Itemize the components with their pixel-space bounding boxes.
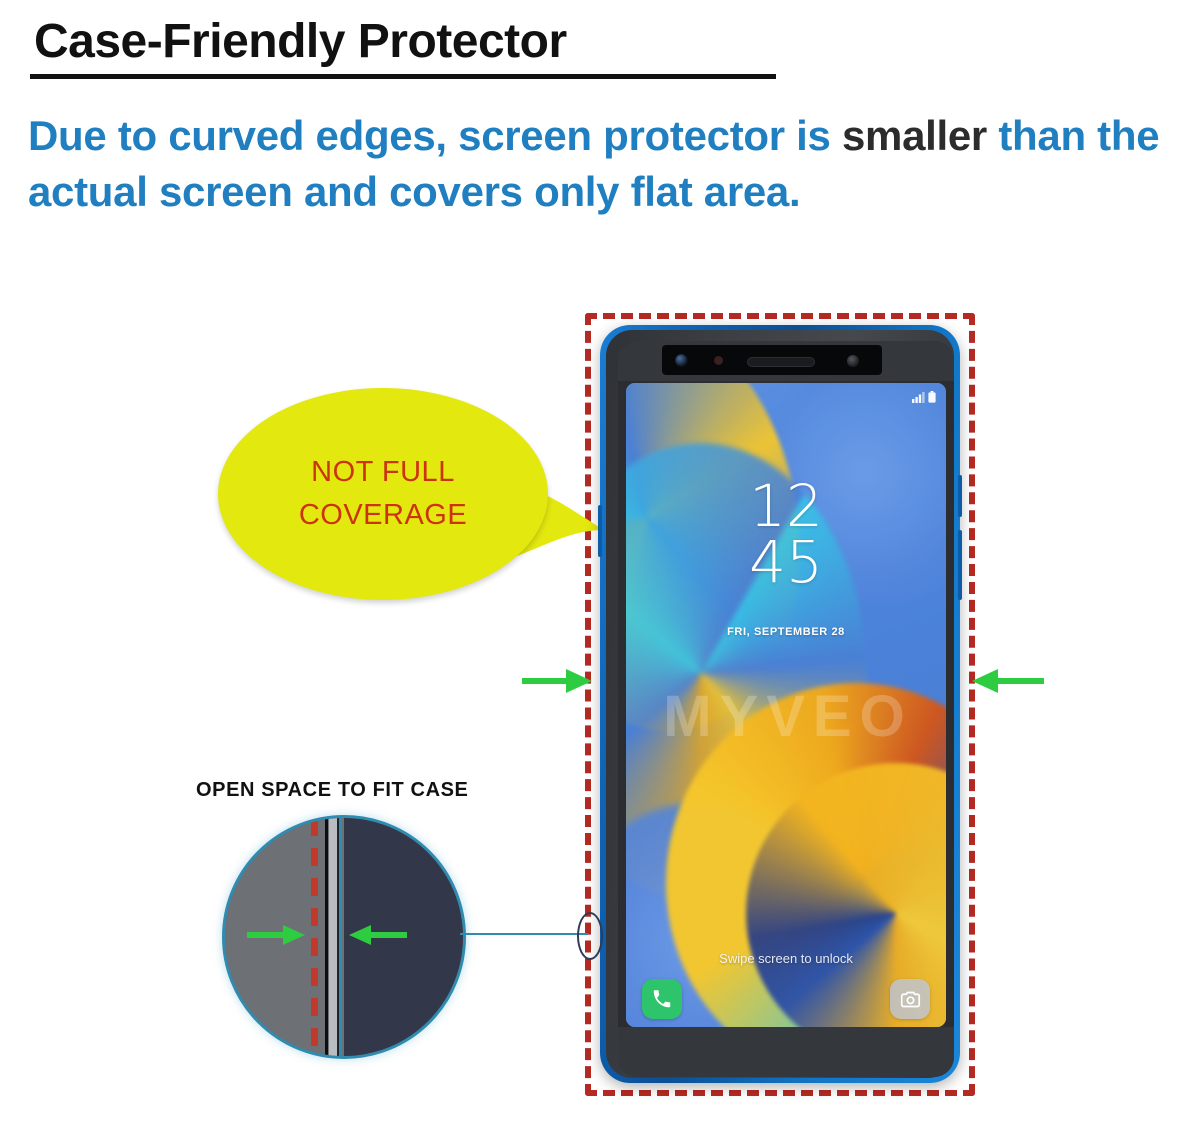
infographic-canvas: Case-Friendly Protector Due to curved ed…	[0, 0, 1181, 1142]
subtitle-emphasis: smaller	[842, 112, 987, 159]
phone-frame: MYVEO 12 45 FRI, SEPTEMBER 28 Swipe scre…	[600, 325, 960, 1083]
magnifier-right-arrow-icon	[347, 922, 409, 948]
phone-body: MYVEO 12 45 FRI, SEPTEMBER 28 Swipe scre…	[606, 330, 954, 1078]
sensor-housing	[662, 345, 882, 375]
clock-minutes: 45	[626, 535, 946, 591]
subtitle-part-1: Due to curved edges, screen protector is	[28, 112, 842, 159]
lockscreen-date: FRI, SEPTEMBER 28	[626, 626, 946, 638]
magnifier-anchor-marker	[577, 912, 603, 960]
layer-glass	[329, 818, 337, 1056]
phone-icon	[651, 988, 673, 1010]
status-bar	[912, 391, 936, 403]
callout-line-1: NOT FULL	[311, 451, 455, 495]
phone-illustration: MYVEO 12 45 FRI, SEPTEMBER 28 Swipe scre…	[600, 325, 960, 1083]
edge-cross-section-magnifier	[222, 815, 466, 1059]
front-camera-icon	[675, 354, 688, 367]
page-title: Case-Friendly Protector	[34, 14, 567, 69]
camera-app-shortcut[interactable]	[890, 979, 930, 1019]
signal-bars-icon	[912, 392, 925, 403]
phone-bottom-chin	[618, 1027, 954, 1077]
layer-dark-1	[325, 818, 328, 1056]
magnifier-connector-line	[460, 933, 588, 935]
callout-line-2: COVERAGE	[299, 494, 467, 538]
magnifier-left-arrow-icon	[245, 922, 307, 948]
earpiece-speaker-icon	[747, 357, 815, 367]
lockscreen-clock: 12 45	[626, 479, 946, 590]
layer-frame	[339, 818, 342, 1056]
left-gap-arrow-icon	[520, 664, 594, 698]
phone-bezel: MYVEO 12 45 FRI, SEPTEMBER 28 Swipe scre…	[618, 341, 954, 1077]
not-full-coverage-callout: NOT FULL COVERAGE	[218, 382, 618, 614]
magnifier-label: OPEN SPACE TO FIT CASE	[196, 779, 469, 802]
phone-volume-button	[958, 475, 962, 517]
unlock-hint: Swipe screen to unlock	[626, 951, 946, 966]
clock-hours: 12	[626, 479, 946, 535]
phone-screen[interactable]: MYVEO 12 45 FRI, SEPTEMBER 28 Swipe scre…	[626, 383, 946, 1027]
phone-top-bezel	[618, 341, 954, 381]
phone-sim-tray	[598, 505, 602, 557]
proximity-sensor-icon	[714, 356, 723, 365]
subtitle-text: Due to curved edges, screen protector is…	[28, 108, 1178, 220]
camera-icon	[900, 989, 921, 1010]
phone-power-button	[958, 530, 962, 600]
watermark: MYVEO	[648, 683, 928, 750]
callout-text: NOT FULL COVERAGE	[218, 388, 548, 600]
title-underline	[30, 74, 776, 79]
phone-app-shortcut[interactable]	[642, 979, 682, 1019]
light-sensor-icon	[847, 355, 859, 367]
protector-edge-dashed-line	[311, 818, 318, 1056]
battery-icon	[928, 391, 936, 403]
right-gap-arrow-icon	[968, 664, 1046, 698]
